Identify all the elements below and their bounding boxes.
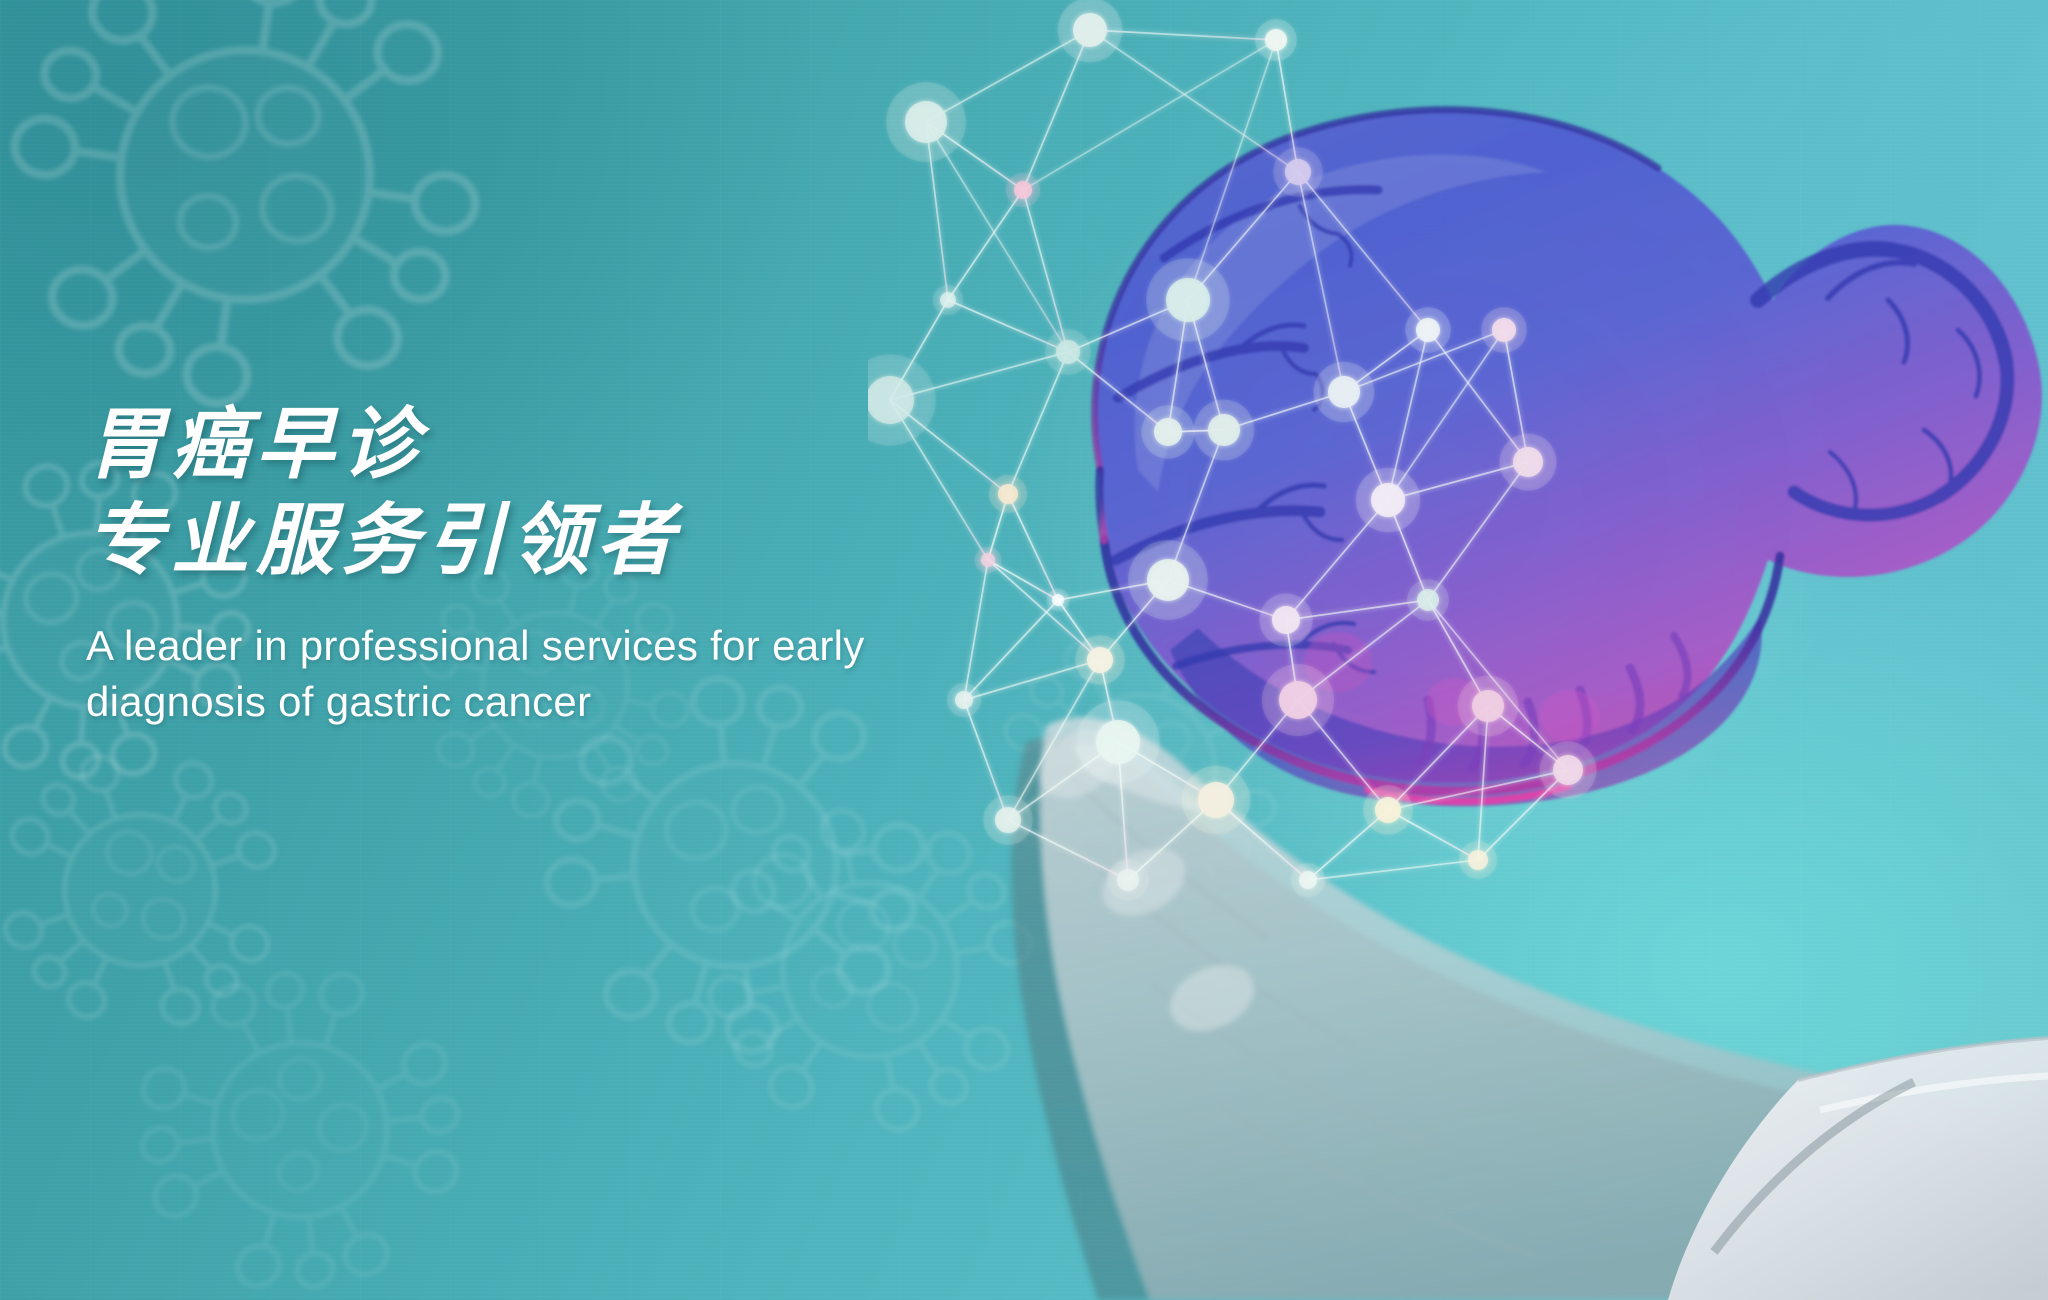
- headline-cn-line1: 胃癌早诊: [86, 400, 986, 488]
- network-edge: [1388, 330, 1504, 500]
- network-edge: [1100, 660, 1118, 742]
- network-node-13: [1492, 318, 1516, 342]
- network-node-halo-17: [1128, 540, 1208, 620]
- network-edge: [926, 122, 1068, 352]
- stomach-rim-left: [1099, 470, 1104, 540]
- network-node-halo-9: [1405, 307, 1451, 353]
- network-edge: [926, 30, 1090, 122]
- subheadline-en: A leader in professional services for ea…: [86, 618, 876, 730]
- network-node-halo-12: [989, 475, 1027, 513]
- headline-cn-line2: 专业服务引领者: [86, 496, 986, 584]
- stomach-body: [1095, 110, 2042, 783]
- virus-right-faint: [963, 594, 1316, 945]
- network-edge: [1478, 770, 1568, 860]
- network-node-22: [1279, 681, 1317, 719]
- network-edge: [926, 122, 948, 300]
- network-node-23: [1472, 690, 1504, 722]
- network-edge: [1308, 810, 1388, 880]
- network-node-27: [995, 807, 1021, 833]
- network-node-halo-7: [1045, 329, 1091, 375]
- stomach-highlight: [1135, 154, 1546, 492]
- network-edge: [1276, 40, 1298, 172]
- stomach-in-hand-artwork: [868, 0, 2048, 1300]
- network-edge: [1428, 330, 1528, 462]
- network-node-halo-31: [1291, 863, 1325, 897]
- network-node-halo-32: [1459, 841, 1497, 879]
- network-edge: [948, 190, 1023, 300]
- network-edge: [1488, 706, 1568, 770]
- network-node-1: [1265, 29, 1287, 51]
- virus-low-left: [82, 912, 519, 1300]
- network-edge: [1428, 600, 1488, 706]
- hand-fingertips: [1026, 716, 1264, 1044]
- sleeve-edge: [1798, 1038, 2048, 1080]
- network-edge: [1286, 600, 1428, 620]
- network-edge: [1168, 580, 1286, 620]
- network-edge: [1504, 330, 1528, 462]
- hand-finger-lines: [1064, 770, 1536, 1256]
- hand-thumb-highlight: [1072, 744, 1208, 812]
- network-edge: [1023, 40, 1276, 190]
- network-node-12: [998, 484, 1018, 504]
- network-edge: [1388, 330, 1428, 500]
- network-node-2: [905, 101, 947, 143]
- network-node-halo-2: [886, 82, 966, 162]
- network-node-29: [1553, 755, 1583, 785]
- stomach-lesion-a: [1304, 632, 1372, 692]
- network-edge: [1224, 392, 1344, 430]
- network-edge: [1128, 800, 1216, 880]
- network-node-halo-15: [1500, 434, 1557, 491]
- network-edge: [1188, 300, 1224, 430]
- network-node-18: [1272, 606, 1300, 634]
- network-node-halo-33: [933, 285, 963, 315]
- banner-root: 胃癌早诊 专业服务引领者 A leader in professional se…: [0, 0, 2048, 1300]
- network-node-26: [1198, 782, 1234, 818]
- stomach-rugae: [1420, 636, 1688, 768]
- headline-block: 胃癌早诊 专业服务引领者 A leader in professional se…: [86, 400, 986, 730]
- network-node-10: [1154, 418, 1182, 446]
- network-node-halo-30: [1107, 859, 1149, 901]
- network-node-halo-27: [983, 795, 1032, 844]
- stomach-lesion-b: [1426, 678, 1482, 726]
- network-edge: [1298, 600, 1428, 700]
- network-node-33: [940, 292, 956, 308]
- network-node-halo-8: [1314, 362, 1375, 423]
- sleeve-body: [1668, 1038, 2048, 1300]
- network-node-halo-22: [1262, 664, 1334, 736]
- network-edge: [1058, 600, 1100, 660]
- stomach-vasculature: [1116, 190, 2007, 672]
- lab-coat-sleeve: [1668, 1038, 2048, 1300]
- network-edge: [1008, 352, 1068, 494]
- network-node-halo-14: [1356, 468, 1421, 533]
- network-edge: [1388, 706, 1488, 810]
- network-edge: [1388, 500, 1428, 600]
- network-edge: [1388, 810, 1478, 860]
- stomach-rim-upper: [1095, 110, 1658, 470]
- network-edge: [1068, 300, 1188, 352]
- network-edge: [1008, 494, 1058, 600]
- open-hand-illustration: [1012, 716, 2048, 1300]
- network-node-halo-25: [1047, 589, 1070, 612]
- stomach-lesion-c: [1540, 690, 1600, 742]
- network-edge: [1388, 462, 1528, 500]
- network-node-0: [1073, 13, 1107, 47]
- network-node-halo-19: [1075, 635, 1124, 684]
- stomach-antrum-shade: [1170, 616, 1762, 806]
- network-edge: [1068, 352, 1168, 432]
- sleeve-fold-shadow: [1714, 1082, 1914, 1252]
- network-edge: [1286, 500, 1388, 620]
- network-node-28: [1375, 797, 1401, 823]
- network-node-19: [1087, 647, 1113, 673]
- network-node-halo-1: [1255, 19, 1297, 61]
- network-node-31: [1299, 871, 1317, 889]
- network-node-halo-26: [1182, 766, 1250, 834]
- network-edge: [926, 122, 1023, 190]
- network-edge: [1308, 860, 1478, 880]
- network-edge: [890, 352, 1068, 400]
- network-edge: [1216, 700, 1298, 800]
- network-node-halo-18: [1259, 593, 1312, 646]
- network-node-5: [1166, 278, 1210, 322]
- network-node-20: [1417, 589, 1439, 611]
- network-node-17: [1147, 559, 1189, 601]
- network-edge: [1090, 30, 1276, 40]
- network-node-15: [1513, 447, 1543, 477]
- network-node-halo-28: [1363, 785, 1412, 834]
- network-edge: [1298, 172, 1428, 330]
- network-node-halo-0: [1058, 0, 1123, 62]
- virus-top-left: [0, 0, 507, 435]
- hand-palm: [1040, 718, 2048, 1300]
- network-edge: [1286, 620, 1298, 700]
- network-node-14: [1371, 483, 1405, 517]
- network-edge: [1023, 190, 1068, 352]
- sleeve-cuff-highlight: [1820, 1076, 2048, 1110]
- network-edge: [1118, 742, 1128, 880]
- network-edge: [1428, 462, 1528, 600]
- network-edge: [1008, 660, 1100, 820]
- network-edge: [1188, 172, 1298, 300]
- network-node-3: [1014, 181, 1032, 199]
- network-edge: [988, 560, 1100, 660]
- network-edge: [1008, 820, 1128, 880]
- network-edge: [1344, 330, 1504, 392]
- hand-shadow: [1012, 737, 2048, 1300]
- network-node-halo-24: [1076, 700, 1160, 784]
- network-node-7: [1056, 340, 1080, 364]
- stomach-illustration: [1095, 110, 2042, 807]
- network-edge: [1428, 600, 1568, 770]
- stomach-rim-lower: [1104, 540, 1780, 791]
- network-edge: [1008, 742, 1118, 820]
- network-node-8: [1328, 376, 1360, 408]
- stomach-rim-accent: [1368, 786, 1568, 802]
- network-edge: [1090, 30, 1298, 172]
- virus-left-low: [0, 703, 327, 1076]
- network-node-halo-10: [1141, 405, 1194, 458]
- organ-glow: [998, 100, 1858, 900]
- network-node-25: [1052, 594, 1064, 606]
- network-node-halo-20: [1407, 579, 1449, 621]
- network-edge: [1388, 770, 1568, 810]
- network-node-halo-4: [1273, 147, 1322, 196]
- network-edge: [1168, 430, 1224, 432]
- network-node-halo-3: [1006, 173, 1040, 207]
- network-edge: [1298, 700, 1388, 810]
- network-edge: [948, 300, 1068, 352]
- network-edge: [1216, 800, 1308, 880]
- artwork-svg: [868, 0, 2048, 1300]
- network-edge: [890, 300, 948, 400]
- virus-center-bottom: [646, 746, 1094, 1193]
- network-edge: [1168, 430, 1224, 580]
- network-node-halo-11: [1194, 400, 1255, 461]
- network-node-32: [1468, 850, 1488, 870]
- network-node-halo-5: [1146, 258, 1230, 342]
- network-edge: [1298, 172, 1344, 392]
- network-edge: [1188, 40, 1276, 300]
- network-node-halo-13: [1481, 307, 1527, 353]
- network-node-11: [1208, 414, 1240, 446]
- subheadline-en-line1: A leader in professional services for ea…: [86, 618, 876, 674]
- network-node-halo-23: [1458, 676, 1519, 737]
- network-edge: [1118, 742, 1216, 800]
- network-edge: [1478, 706, 1488, 860]
- network-edge: [1344, 392, 1388, 500]
- network-edge: [1168, 300, 1188, 432]
- network-node-4: [1285, 159, 1311, 185]
- network-node-30: [1117, 869, 1139, 891]
- network-node-24: [1096, 720, 1140, 764]
- network-edge: [1100, 580, 1168, 660]
- network-edge: [1344, 330, 1428, 392]
- network-node-halo-29: [1540, 742, 1597, 799]
- subheadline-en-line2: diagnosis of gastric cancer: [86, 674, 876, 730]
- network-edge: [988, 560, 1058, 600]
- network-node-9: [1416, 318, 1440, 342]
- network-edge: [1058, 580, 1168, 600]
- network-edge: [988, 494, 1008, 560]
- network-edge: [1023, 30, 1090, 190]
